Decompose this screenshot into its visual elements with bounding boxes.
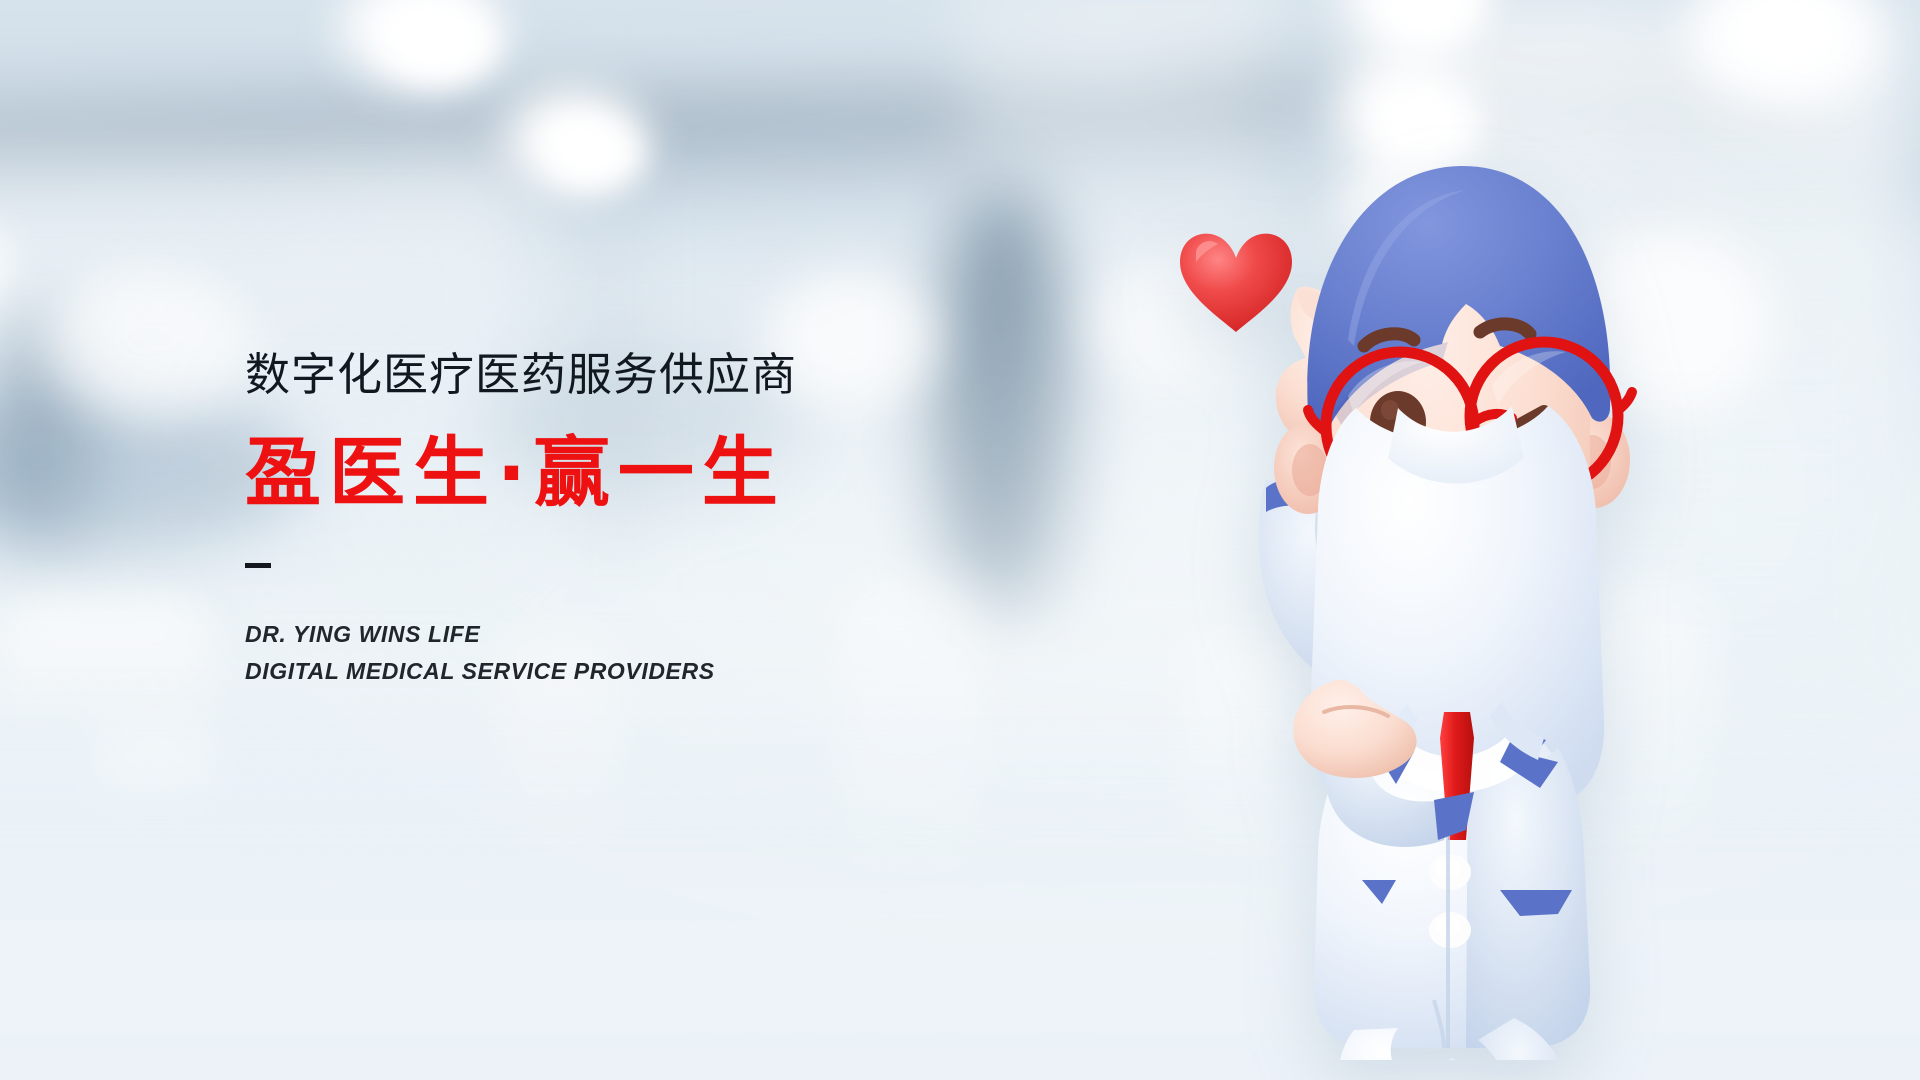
doctor-mascot	[1148, 40, 1728, 1060]
tagline-en-block: DR. YING WINS LIFE DIGITAL MEDICAL SERVI…	[245, 616, 965, 691]
hero-banner: 数字化医疗医药服务供应商 盈医生·赢一生 DR. YING WINS LIFE …	[0, 0, 1920, 1080]
hero-text-block: 数字化医疗医药服务供应商 盈医生·赢一生 DR. YING WINS LIFE …	[245, 350, 965, 690]
tagline-en-line2: DIGITAL MEDICAL SERVICE PROVIDERS	[245, 653, 965, 690]
headline-cn: 盈医生·赢一生	[245, 430, 965, 515]
subtitle-cn: 数字化医疗医药服务供应商	[245, 350, 965, 400]
heart-icon	[1180, 234, 1292, 332]
divider-rule	[245, 563, 271, 568]
tagline-en-line1: DR. YING WINS LIFE	[245, 616, 965, 653]
